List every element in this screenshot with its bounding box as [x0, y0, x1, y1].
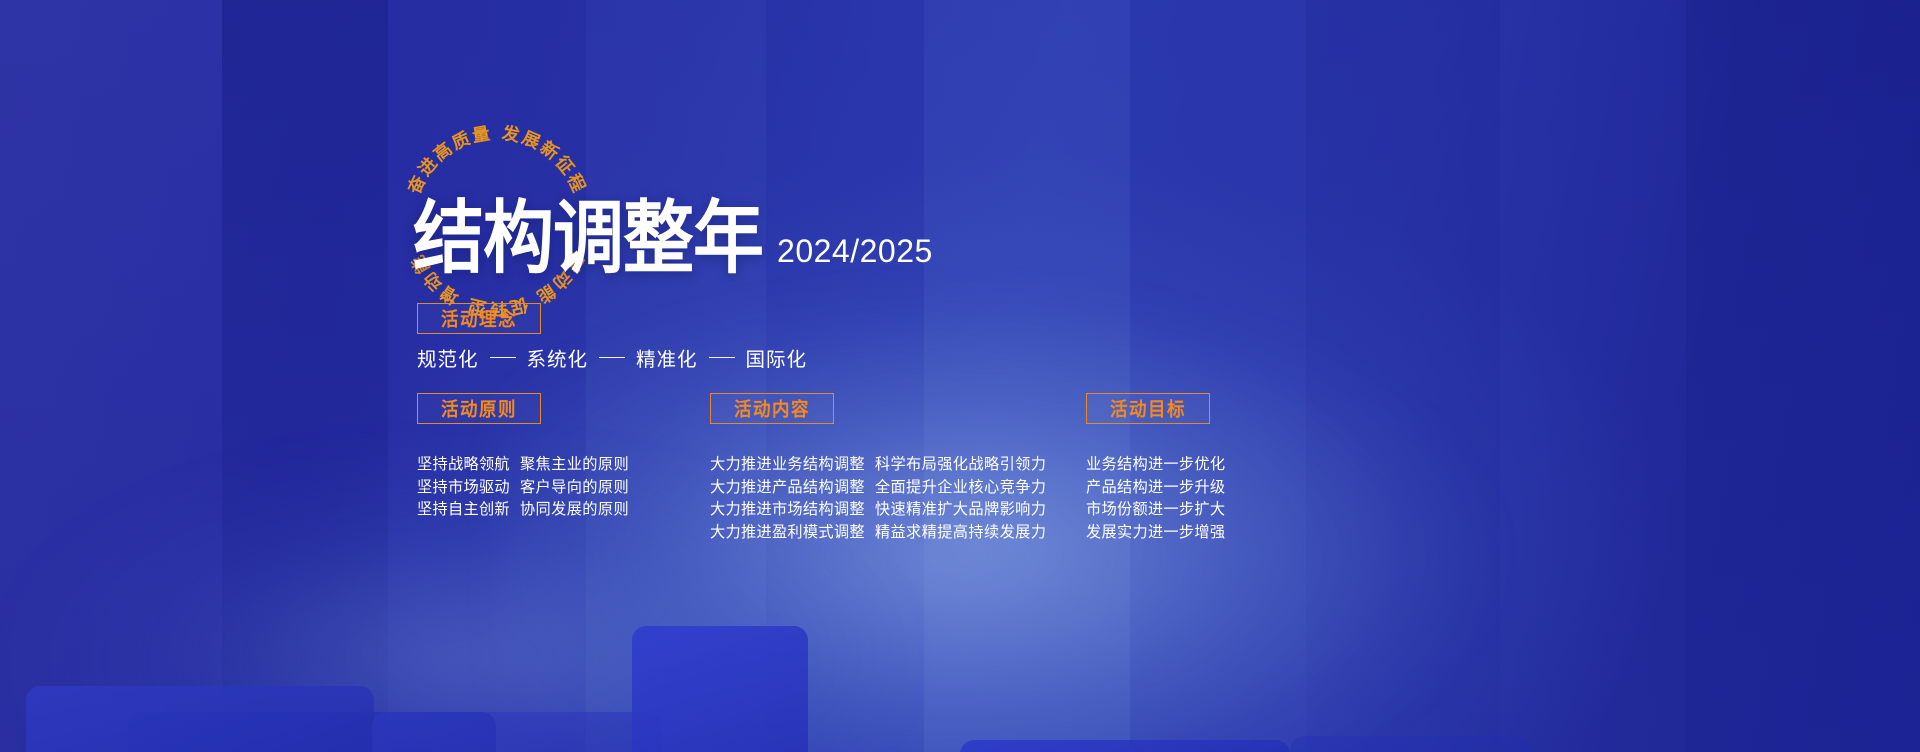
- content-2-right: 快速精准扩大品牌影响力: [875, 500, 1046, 518]
- content-2-left: 大力推进市场结构调整: [710, 500, 865, 518]
- badge-activity-content: 活动内容: [710, 393, 834, 424]
- list-item: 大力推进盈利模式调整精益求精提高持续发展力: [710, 521, 1046, 544]
- badge-activity-goals-label: 活动目标: [1110, 395, 1186, 422]
- concept-separator-2: [709, 357, 735, 359]
- content-0-left: 大力推进业务结构调整: [710, 455, 865, 473]
- concept-item-0: 规范化: [417, 343, 479, 372]
- title-row: 结构调整年 2024/2025: [413, 207, 933, 278]
- concept-item-2: 精准化: [636, 343, 698, 372]
- list-item: 发展实力进一步增强: [1086, 521, 1225, 544]
- badge-activity-principles: 活动原则: [417, 393, 541, 424]
- goal-1: 产品结构进一步升级: [1086, 478, 1225, 496]
- list-item: 坚持自主创新协同发展的原则: [417, 498, 629, 521]
- list-item: 大力推进产品结构调整全面提升企业核心竞争力: [710, 476, 1046, 499]
- list-item: 市场份额进一步扩大: [1086, 498, 1225, 521]
- badge-activity-principles-label: 活动原则: [441, 395, 517, 422]
- goal-3: 发展实力进一步增强: [1086, 523, 1225, 541]
- content-3-right: 精益求精提高持续发展力: [875, 523, 1046, 541]
- concept-item-3: 国际化: [746, 343, 808, 372]
- concept-separator-0: [490, 357, 516, 359]
- column-activity-principles: 活动原则 坚持战略领航聚焦主业的原则 坚持市场驱动客户导向的原则 坚持自主创新协…: [417, 393, 629, 521]
- goal-2: 市场份额进一步扩大: [1086, 500, 1225, 518]
- column-activity-content: 活动内容 大力推进业务结构调整科学布局强化战略引领力 大力推进产品结构调整全面提…: [710, 393, 1046, 543]
- title-year: 2024/2025: [777, 233, 933, 270]
- content-1-right: 全面提升企业核心竞争力: [875, 478, 1046, 496]
- structure-adjustment-year-banner: 奋进高质量 发展新征程 赋动能 促转型 增动能 结构调整年 2024/2025 …: [0, 0, 1920, 752]
- principle-2-left: 坚持自主创新: [417, 500, 510, 518]
- list-item: 坚持市场驱动客户导向的原则: [417, 476, 629, 499]
- list-item: 坚持战略领航聚焦主业的原则: [417, 453, 629, 476]
- principle-2-right: 协同发展的原则: [520, 500, 629, 518]
- concept-separator-1: [599, 357, 625, 359]
- list-item: 业务结构进一步优化: [1086, 453, 1225, 476]
- goal-0: 业务结构进一步优化: [1086, 455, 1225, 473]
- seal-text-top: 奋进高质量 发展新征程: [404, 123, 589, 199]
- principle-1-left: 坚持市场驱动: [417, 478, 510, 496]
- principle-0-right: 聚焦主业的原则: [520, 455, 629, 473]
- principle-0-left: 坚持战略领航: [417, 455, 510, 473]
- column-activity-goals: 活动目标 业务结构进一步优化 产品结构进一步升级 市场份额进一步扩大 发展实力进…: [1086, 393, 1225, 543]
- concept-items-row: 规范化 系统化 精准化 国际化: [417, 343, 807, 372]
- list-item: 大力推进市场结构调整快速精准扩大品牌影响力: [710, 498, 1046, 521]
- column-activity-principles-lines: 坚持战略领航聚焦主业的原则 坚持市场驱动客户导向的原则 坚持自主创新协同发展的原…: [417, 453, 629, 521]
- list-item: 产品结构进一步升级: [1086, 476, 1225, 499]
- badge-activity-content-label: 活动内容: [734, 395, 810, 422]
- column-activity-goals-lines: 业务结构进一步优化 产品结构进一步升级 市场份额进一步扩大 发展实力进一步增强: [1086, 453, 1225, 543]
- list-item: 大力推进业务结构调整科学布局强化战略引领力: [710, 453, 1046, 476]
- content-1-left: 大力推进产品结构调整: [710, 478, 865, 496]
- badge-activity-concept: 活动理念: [417, 303, 541, 334]
- column-activity-content-lines: 大力推进业务结构调整科学布局强化战略引领力 大力推进产品结构调整全面提升企业核心…: [710, 453, 1046, 543]
- content-3-left: 大力推进盈利模式调整: [710, 523, 865, 541]
- concept-item-1: 系统化: [527, 343, 589, 372]
- content-0-right: 科学布局强化战略引领力: [875, 455, 1046, 473]
- page-title: 结构调整年: [413, 198, 763, 278]
- principle-1-right: 客户导向的原则: [520, 478, 629, 496]
- badge-activity-concept-label: 活动理念: [441, 305, 517, 332]
- badge-activity-goals: 活动目标: [1086, 393, 1210, 424]
